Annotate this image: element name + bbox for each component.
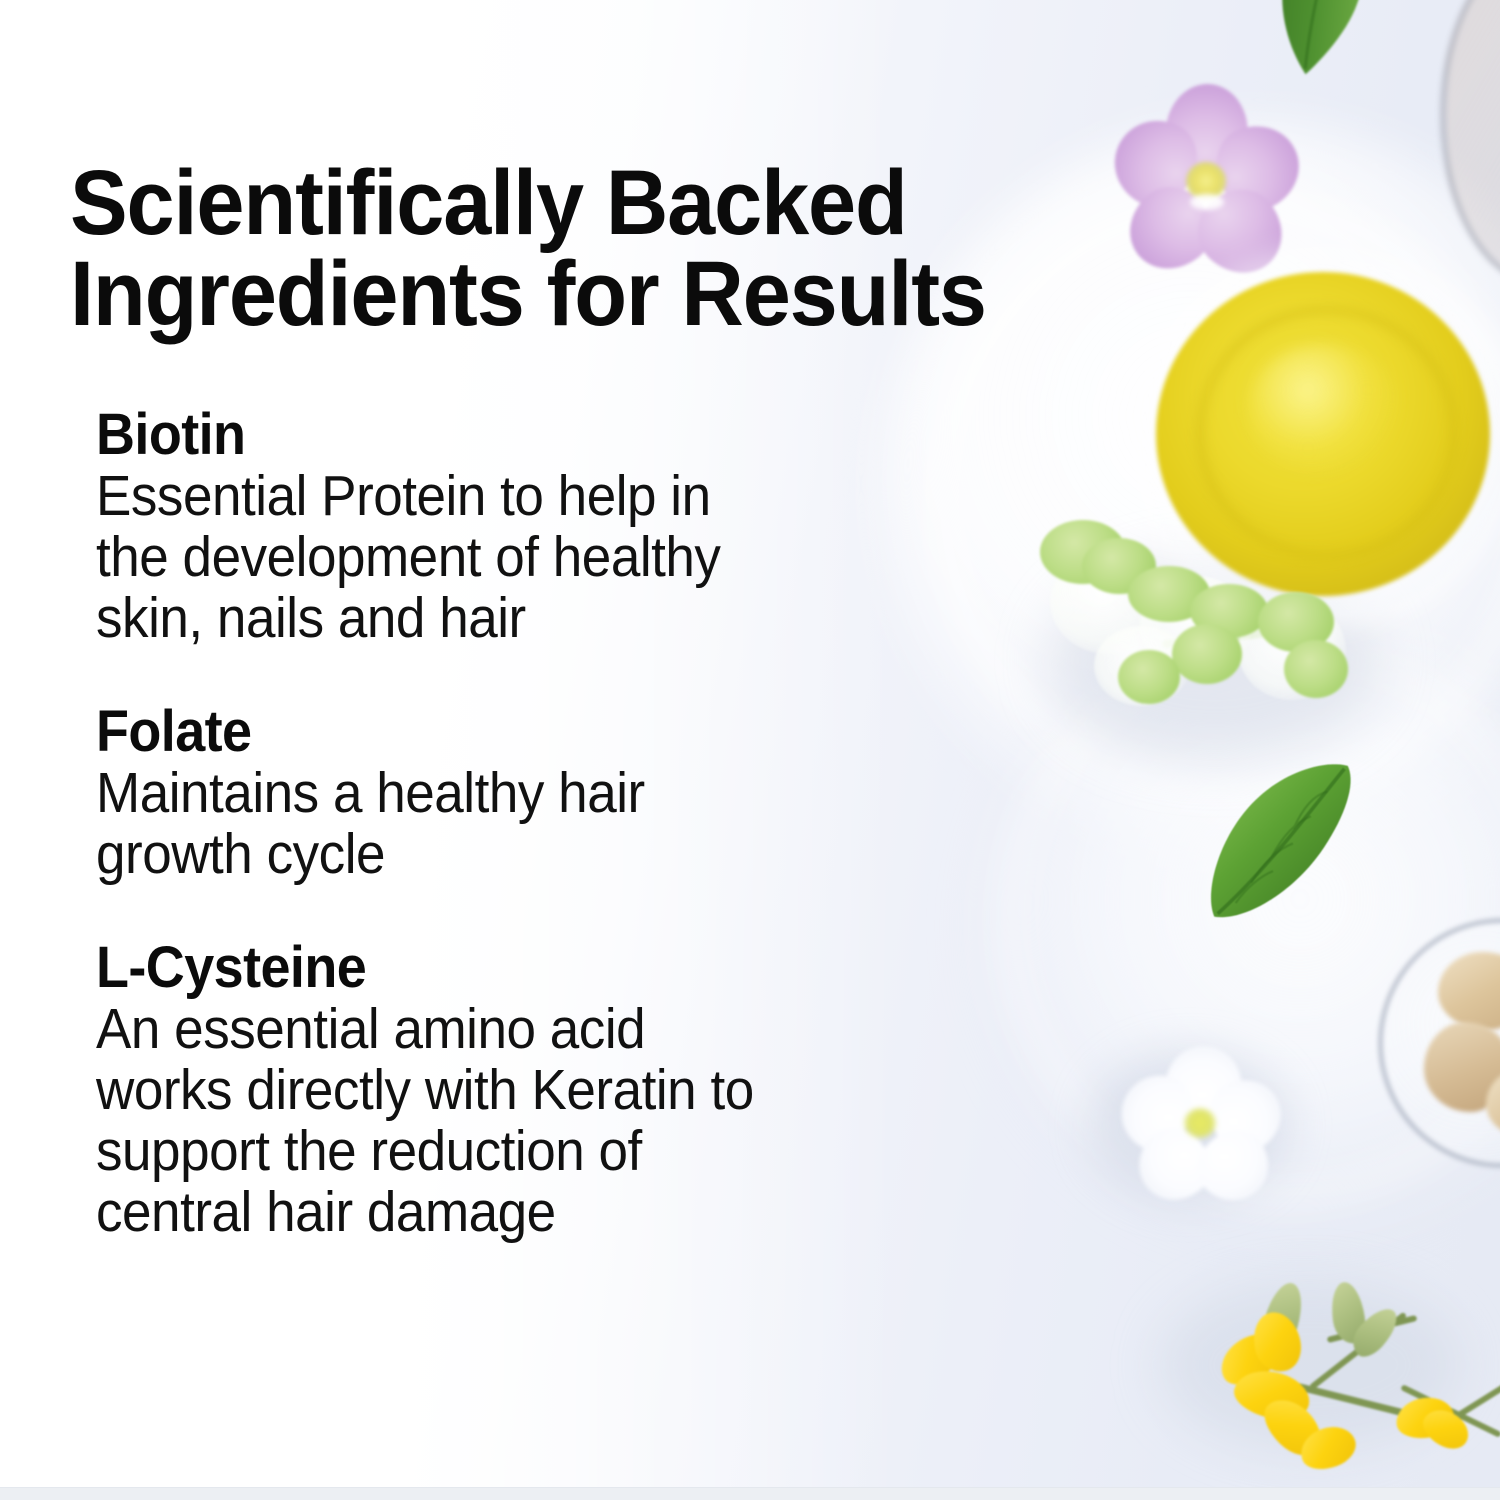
bottom-divider [0,1487,1500,1500]
ingredient-name: Folate [96,703,1007,761]
ingredient-item-l-cysteine: L-Cysteine An essential amino acid works… [96,939,1076,1243]
infographic-canvas: Scientifically Backed Ingredients for Re… [0,0,1500,1500]
ingredient-name: Biotin [96,406,1007,464]
page-title: Scientifically Backed Ingredients for Re… [70,158,1142,340]
ingredient-description: An essential amino acid works directly w… [96,999,1007,1243]
ingredient-name: L-Cysteine [96,939,1007,997]
ingredient-item-biotin: Biotin Essential Protein to help in the … [96,406,1076,649]
ingredient-list: Biotin Essential Protein to help in the … [96,406,1076,1243]
content-layer: Scientifically Backed Ingredients for Re… [0,0,1500,1500]
ingredient-description: Maintains a healthy hair growth cycle [96,763,1007,885]
ingredient-description: Essential Protein to help in the develop… [96,466,1007,649]
ingredient-item-folate: Folate Maintains a healthy hair growth c… [96,703,1076,885]
